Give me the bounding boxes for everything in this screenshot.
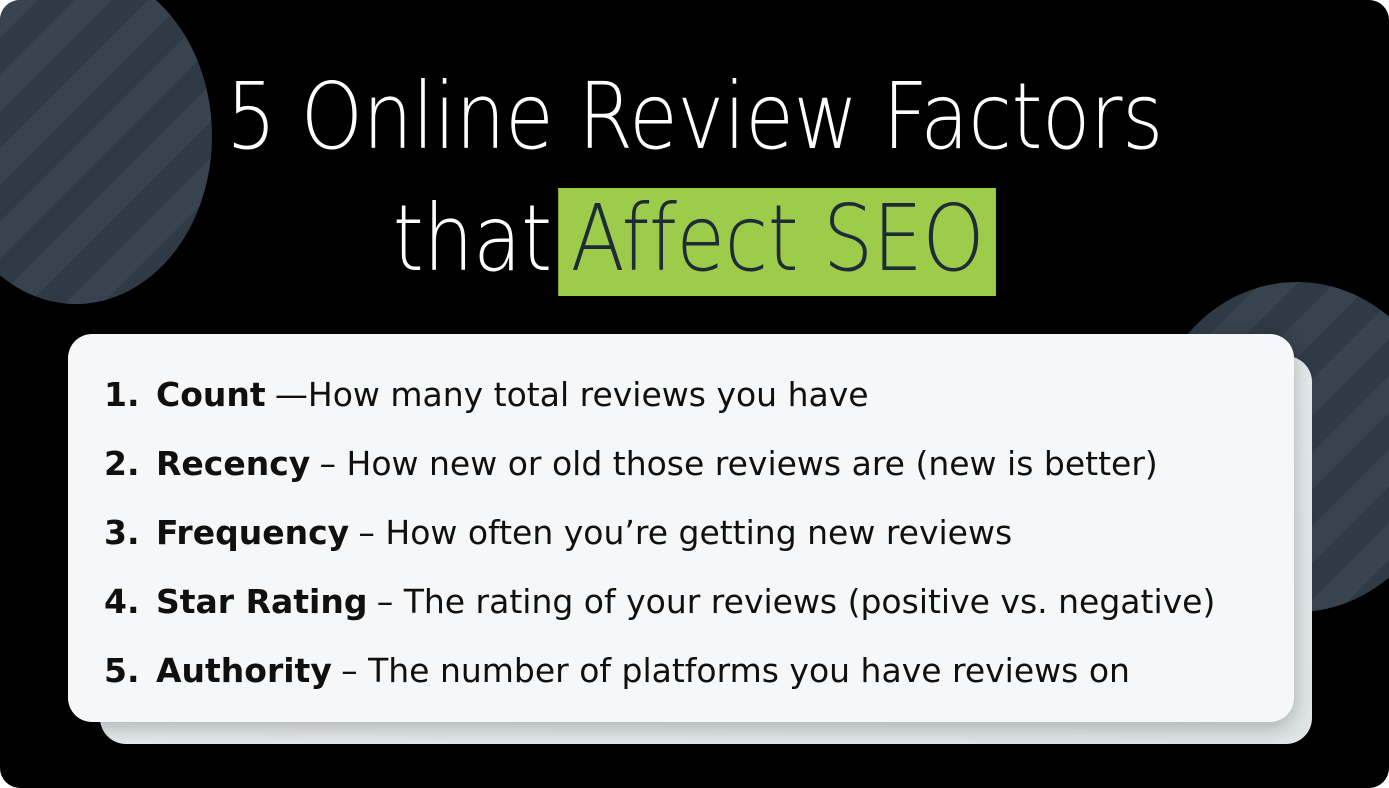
list-item: 2. Recency – How new or old those review… [104, 429, 1254, 498]
list-item-term: Authority [156, 636, 332, 705]
list-item-term: Star Rating [156, 567, 367, 636]
list-item: 3. Frequency – How often you’re getting … [104, 498, 1254, 567]
list-item: 1. Count —How many total reviews you hav… [104, 360, 1254, 429]
list-item-number: 5. [104, 636, 156, 705]
slide-canvas: 5 Online Review Factors thatAffect SEO 1… [0, 0, 1389, 788]
list-item: 5. Authority – The number of platforms y… [104, 636, 1254, 705]
list-item-term: Frequency [156, 498, 349, 567]
factors-card: 1. Count —How many total reviews you hav… [68, 334, 1294, 722]
title-line-2-prefix: that [393, 185, 552, 292]
list-item-number: 4. [104, 567, 156, 636]
list-item-number: 3. [104, 498, 156, 567]
title-highlight-affect-seo: Affect SEO [559, 188, 997, 296]
list-item-term: Recency [156, 429, 310, 498]
list-item-number: 2. [104, 429, 156, 498]
list-item-description: —How many total reviews you have [275, 360, 869, 429]
page-title: 5 Online Review Factors thatAffect SEO [0, 56, 1389, 300]
title-line-2: thatAffect SEO [97, 178, 1292, 300]
factors-list: 1. Count —How many total reviews you hav… [104, 360, 1254, 705]
list-item-description: – How often you’re getting new reviews [358, 498, 1012, 567]
list-item-number: 1. [104, 360, 156, 429]
list-item: 4. Star Rating – The rating of your revi… [104, 567, 1254, 636]
list-item-term: Count [156, 360, 266, 429]
title-line-1: 5 Online Review Factors [97, 56, 1292, 178]
list-item-description: – The number of platforms you have revie… [341, 636, 1130, 705]
list-item-description: – The rating of your reviews (positive v… [377, 567, 1216, 636]
list-item-description: – How new or old those reviews are (new … [320, 429, 1158, 498]
